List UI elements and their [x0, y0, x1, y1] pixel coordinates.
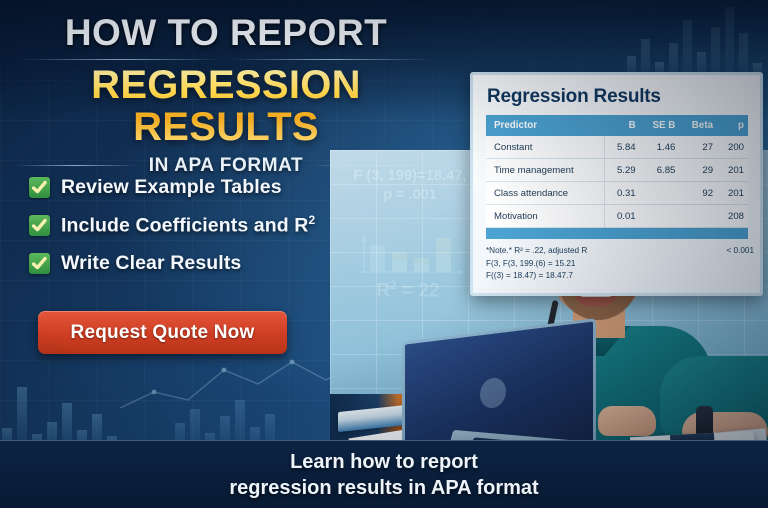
cell-beta [679, 205, 717, 228]
table-header-row: Predictor B SE B Beta p [486, 115, 748, 136]
cell-p: 208 [717, 205, 748, 228]
cell-se-b [640, 205, 680, 228]
check-icon [29, 253, 50, 274]
table-row: Class attendance 0.31 92 201 [486, 182, 748, 205]
headline-line-1: HOW TO REPORT [0, 14, 452, 52]
note-line-1: *Note.* R² = .22, adjusted R [486, 245, 760, 258]
list-item-label-text: Include Coefficients and R [61, 215, 308, 237]
cell-se-b [640, 182, 680, 205]
column-header-p: p [717, 115, 748, 136]
cell-predictor: Motivation [486, 205, 605, 228]
check-icon [29, 215, 50, 236]
list-item-label: Review Example Tables [61, 176, 282, 199]
list-item: Review Example Tables [29, 176, 359, 199]
bottom-frame [0, 508, 768, 512]
cell-p: 200 [717, 136, 748, 159]
note-line-3: F((3) = 18.47) = 18.47.7 [486, 270, 760, 283]
cell-b: 0.01 [605, 205, 640, 228]
cell-p: 201 [717, 182, 748, 205]
cell-predictor: Class attendance [486, 182, 605, 205]
request-quote-label: Request Quote Now [71, 322, 255, 344]
list-item-label: Include Coefficients and R2 [61, 213, 315, 238]
regression-results-table: Predictor B SE B Beta p Constant 5.84 1.… [486, 115, 748, 228]
note-line-2: F(3, F(3, 199.(6) = 15.21 [486, 258, 760, 271]
table-note: < 0.001 *Note.* R² = .22, adjusted R F(3… [486, 245, 760, 283]
list-item: Include Coefficients and R2 [29, 213, 359, 238]
cell-se-b: 6.85 [640, 159, 680, 182]
hand-on-keyboard [598, 406, 656, 436]
column-header-se-b: SE B [640, 115, 680, 136]
check-icon [29, 177, 50, 198]
footer-caption: Learn how to report regression results i… [0, 440, 768, 512]
column-header-b: B [605, 115, 640, 136]
list-item-label: Write Clear Results [61, 252, 241, 275]
cell-beta: 92 [679, 182, 717, 205]
caption-line-1: Learn how to report [290, 450, 478, 476]
infographic-banner: HOW TO REPORT REGRESSION RESULTS IN APA … [0, 0, 768, 512]
request-quote-button[interactable]: Request Quote Now [38, 311, 287, 354]
cell-predictor: Constant [486, 136, 605, 159]
regression-results-card: Regression Results Predictor B SE B Beta… [470, 72, 763, 296]
card-title: Regression Results [487, 86, 760, 108]
cell-b: 5.84 [605, 136, 640, 159]
headline-line-3: IN APA FORMAT [149, 155, 304, 177]
headline-divider [20, 59, 432, 60]
caption-separator [0, 440, 768, 441]
column-header-beta: Beta [679, 115, 717, 136]
column-header-predictor: Predictor [486, 115, 605, 136]
table-footer-bar [486, 228, 748, 239]
cell-b: 5.29 [605, 159, 640, 182]
cell-beta: 29 [679, 159, 717, 182]
table-row: Time management 5.29 6.85 29 201 [486, 159, 748, 182]
benefit-list: Review Example Tables Include Coefficien… [29, 176, 359, 289]
note-p-value: < 0.001 [726, 245, 754, 258]
list-item-label-superscript: 2 [308, 213, 315, 227]
cell-p: 201 [717, 159, 748, 182]
caption-line-2: regression results in APA format [229, 476, 538, 502]
table-row: Motivation 0.01 208 [486, 205, 748, 228]
cell-beta: 27 [679, 136, 717, 159]
divider-left [20, 59, 221, 60]
divider-right [231, 59, 432, 60]
cell-se-b: 1.46 [640, 136, 680, 159]
cell-predictor: Time management [486, 159, 605, 182]
table-row: Constant 5.84 1.46 27 200 [486, 136, 748, 159]
subtitle-rule-left [14, 165, 138, 166]
headline-line-2: REGRESSION RESULTS [0, 63, 452, 151]
cell-b: 0.31 [605, 182, 640, 205]
list-item: Write Clear Results [29, 252, 359, 275]
